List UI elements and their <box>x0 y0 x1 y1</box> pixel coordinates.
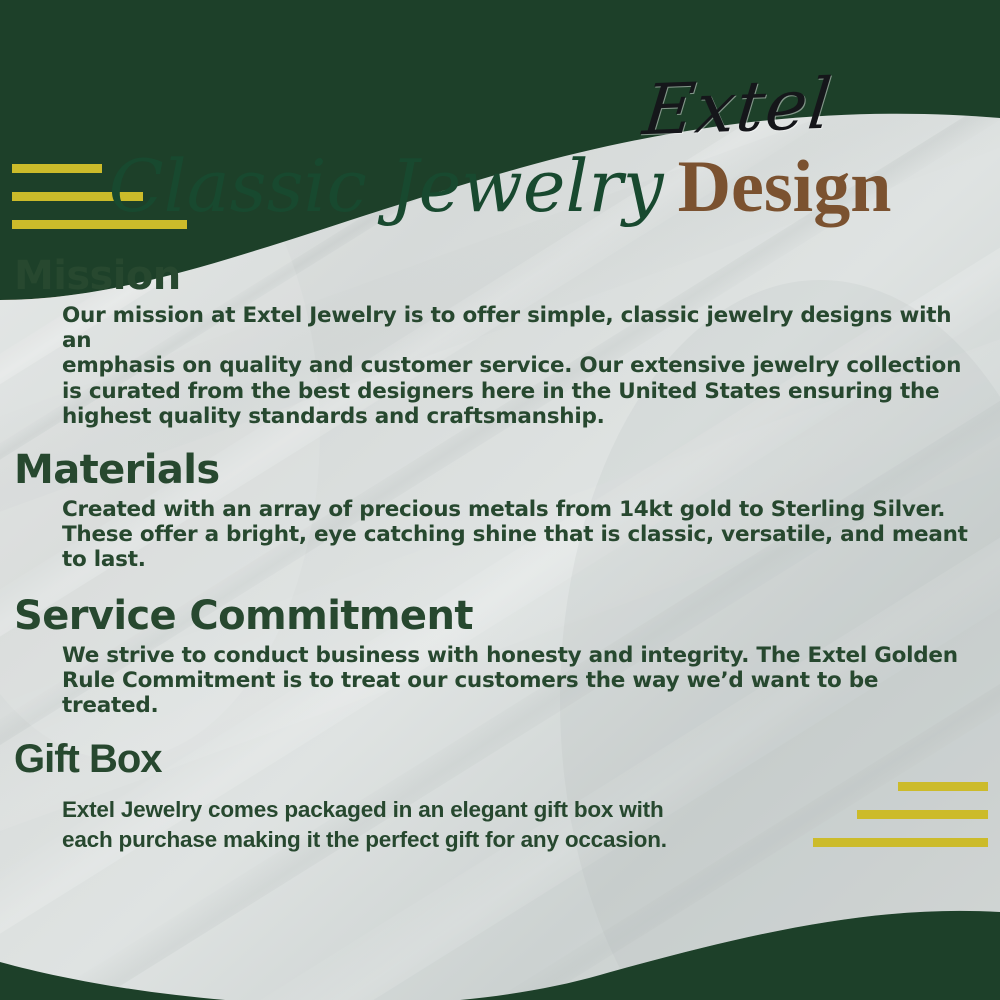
decorative-rule <box>12 164 102 173</box>
section-body-gift-box: Extel Jewelry comes packaged in an elega… <box>62 795 980 854</box>
section-materials: Materials Created with an array of preci… <box>0 449 1000 573</box>
section-body-service-commitment: We strive to conduct business with hones… <box>62 643 980 718</box>
section-heading-mission: Mission <box>14 255 1000 298</box>
decorative-rules-top-left <box>12 164 187 229</box>
section-mission: Mission Our mission at Extel Jewelry is … <box>0 255 1000 429</box>
content-sections: Mission Our mission at Extel Jewelry is … <box>0 255 1000 868</box>
section-gift-box: Gift Box Extel Jewelry comes packaged in… <box>0 738 1000 854</box>
section-heading-gift-box: Gift Box <box>14 738 1000 781</box>
section-heading-materials: Materials <box>14 449 1000 492</box>
section-body-materials: Created with an array of precious metals… <box>62 497 980 572</box>
section-body-mission: Our mission at Extel Jewelry is to offer… <box>62 303 980 429</box>
decorative-rule <box>12 220 187 229</box>
decorative-rule <box>12 192 143 201</box>
section-service-commitment: Service Commitment We strive to conduct … <box>0 595 1000 719</box>
section-heading-service-commitment: Service Commitment <box>14 595 1000 638</box>
poster-canvas: Extel Classic JewelryDesign Mission Our … <box>0 0 1000 1000</box>
